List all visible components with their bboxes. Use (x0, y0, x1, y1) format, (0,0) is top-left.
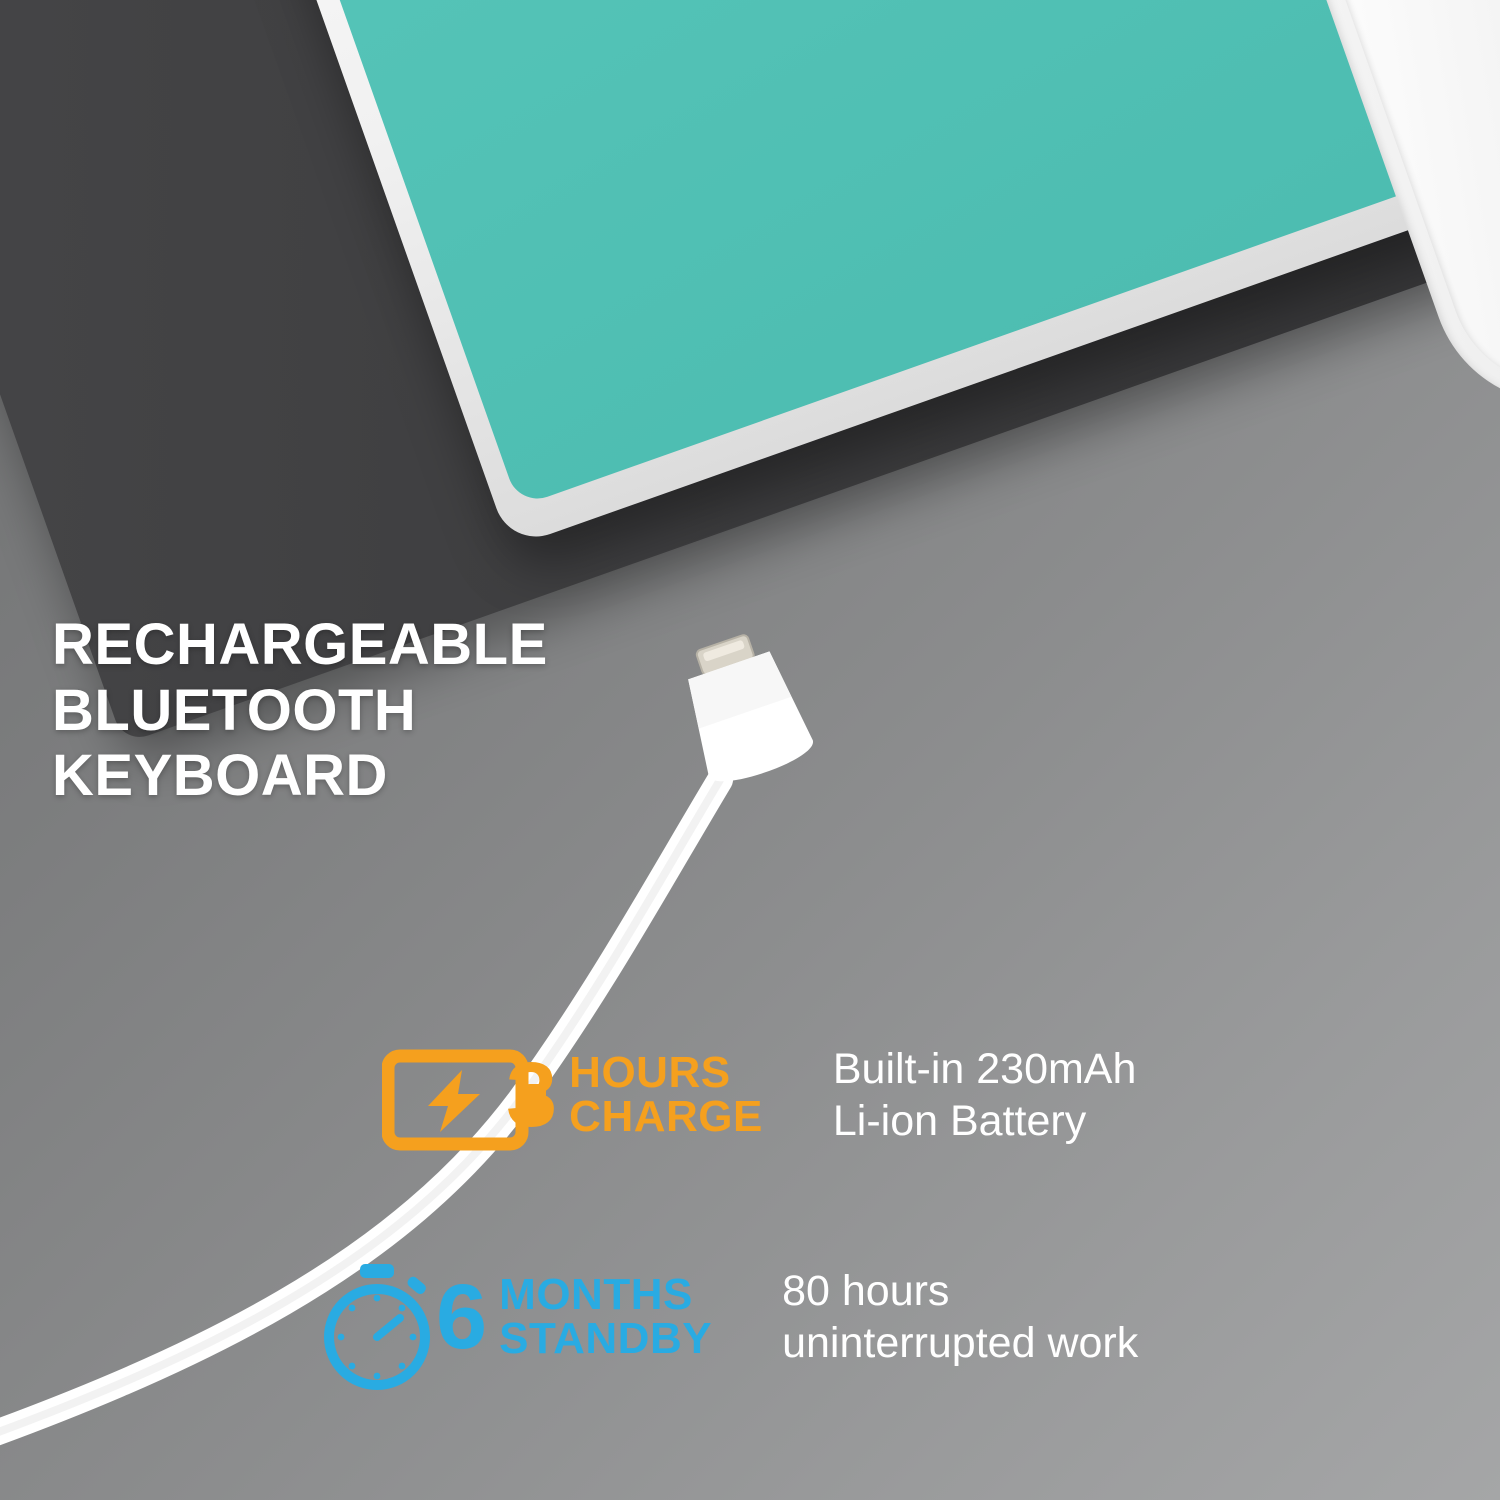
charge-label-bottom: CHARGE (569, 1095, 763, 1139)
charge-labels: HOURS CHARGE (569, 1051, 763, 1139)
headline-line-3: KEYBOARD (52, 743, 548, 809)
charge-label-top: HOURS (569, 1051, 763, 1095)
stopwatch-icon (312, 1262, 432, 1372)
standby-label-bottom: STANDBY (499, 1317, 712, 1361)
standby-labels: MONTHS STANDBY (499, 1273, 712, 1361)
standby-description: 80 hours uninterrupted work (782, 1265, 1138, 1370)
feature-standby: 6 MONTHS STANDBY 80 hours uninterrupted … (312, 1262, 1138, 1372)
headline-line-2: BLUETOOTH (52, 678, 548, 744)
charge-description: Built-in 230mAh Li-ion Battery (833, 1043, 1137, 1148)
standby-label-top: MONTHS (499, 1273, 712, 1317)
standby-months-number: 6 (436, 1276, 487, 1359)
feature-charge: 3 HOURS CHARGE Built-in 230mAh Li-ion Ba… (382, 1040, 1136, 1150)
product-image: End ← PgDn ↓ PgUp ↑ Home → alt Shift ret… (0, 0, 1500, 1500)
headline-line-1: RECHARGEABLE (52, 612, 548, 678)
page-title: RECHARGEABLE BLUETOOTH KEYBOARD (52, 612, 548, 809)
battery-charging-icon (382, 1040, 502, 1150)
